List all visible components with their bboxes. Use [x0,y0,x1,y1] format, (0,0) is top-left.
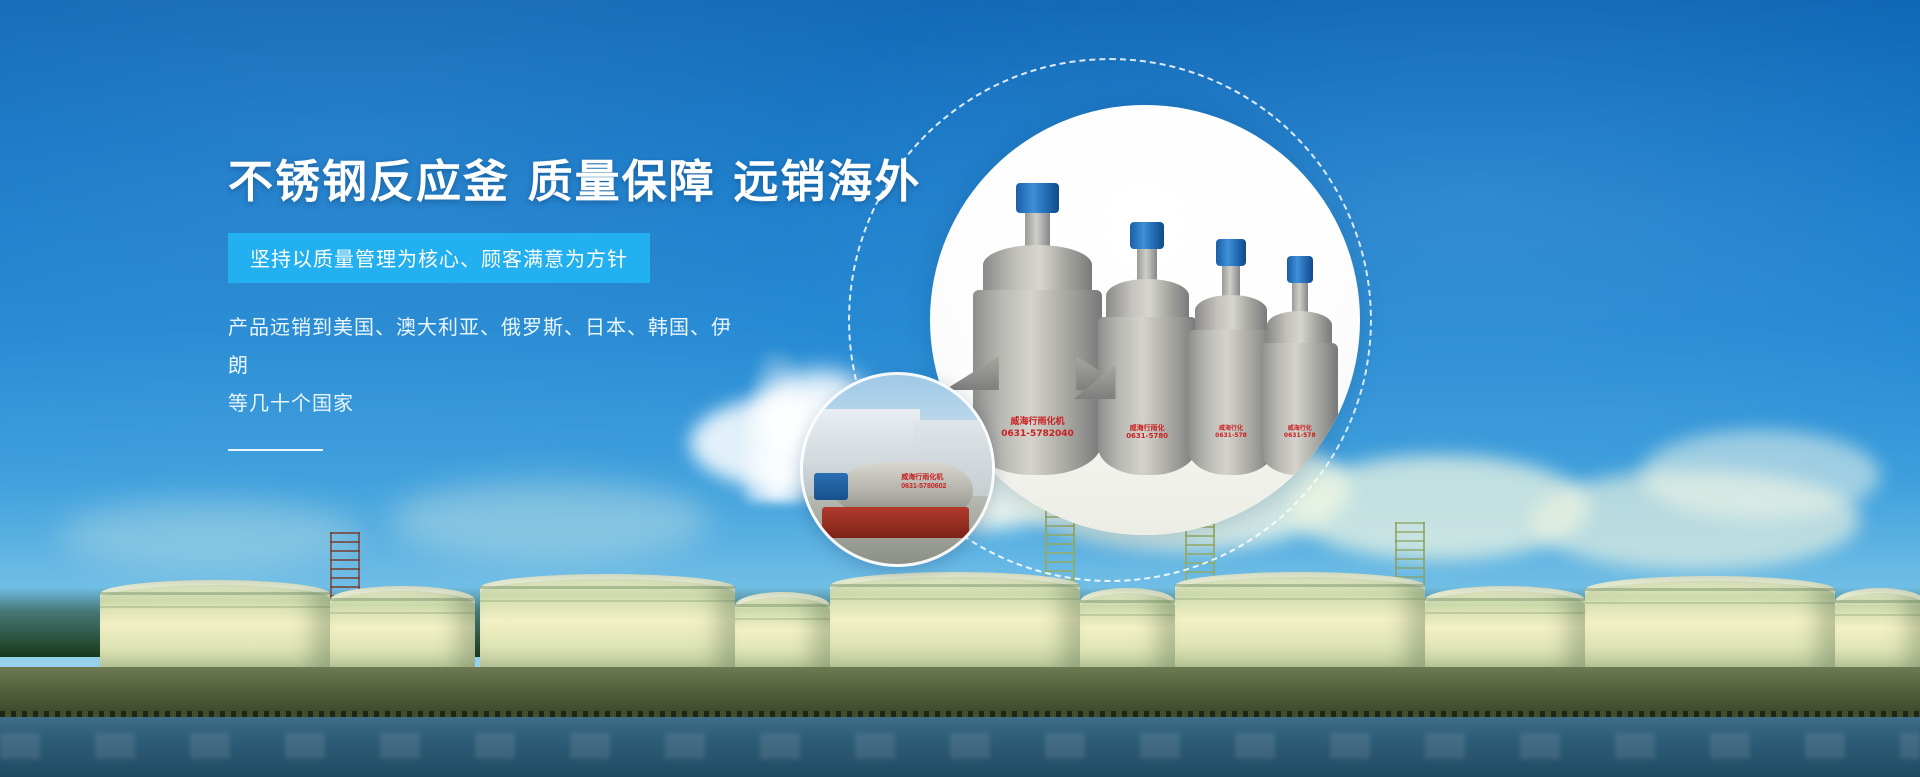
storage-tank [1175,572,1425,672]
vessel-label-phone: 0631-5782040 [1001,429,1074,439]
vessel-head [983,245,1091,295]
storage-tank [330,586,475,672]
agitator-motor [1130,222,1164,249]
storage-tank [1425,586,1585,672]
vessel-label-company: 威海行化 [1288,425,1312,432]
vessel-label-company: 威海行雨化 [1130,424,1165,432]
vessel-label-phone: 0631-5780 [1126,432,1168,440]
vessel-label-phone: 0631-578 [1215,432,1247,439]
storage-tank [1080,588,1175,672]
vessel-head [1195,295,1267,334]
refinery-scene [0,512,1920,777]
storage-tank [735,592,830,672]
vessel-label: 威海行化 0631-578 [1284,425,1316,440]
vessel-label-company: 威海行雨化机 [901,474,943,481]
vessel-label: 威海行化 0631-578 [1215,425,1247,440]
agitator-motor [814,473,848,499]
transport-truck [822,507,969,537]
agitator-motor [1287,256,1313,282]
agitator-motor [1216,239,1245,266]
hero-description-line1: 产品远销到美国、澳大利亚、俄罗斯、日本、韩国、伊朗 [228,317,732,377]
storage-tank [1585,576,1835,672]
hero-copy: 不锈钢反应釜 质量保障 远销海外 坚持以质量管理为核心、顾客满意为方针 产品远销… [228,158,868,451]
hero-description: 产品远销到美国、澳大利亚、俄罗斯、日本、韩国、伊朗 等几十个国家 [228,309,748,423]
cloud [1640,430,1880,520]
storage-tank [1835,588,1920,672]
storage-tank [830,572,1080,672]
reactor-vessel: 威海行雨化 0631-5780 [1098,264,1197,475]
vessel-label: 威海行雨化机 0631-5782040 [1001,417,1074,440]
agitator-motor [1016,183,1060,213]
vessel-label-company: 威海行雨化机 [1010,417,1064,427]
hero-divider-rule [228,449,323,451]
motor-cap [1223,221,1238,240]
vessel-label-phone: 0631-5780602 [901,483,946,490]
vessel-label: 威海行雨化 0631-5780 [1126,424,1168,442]
water-sheen [0,733,1920,759]
reactor-vessel: 威海行雨化机 0631-5782040 [973,225,1102,474]
vessel-head [1106,279,1189,321]
motor-cap [1293,239,1307,258]
storage-tank-row [0,522,1920,672]
vessel-label-company: 威海行化 [1219,425,1243,432]
hero-badge: 坚持以质量管理为核心、顾客满意为方针 [228,233,650,283]
motor-cap [1138,203,1156,224]
vessel-label: 威海行雨化机 0631-5780602 [901,473,946,491]
vessel-head [1267,311,1332,346]
storage-tank [100,580,330,672]
reactor-vessel: 威海行化 0631-578 [1261,299,1338,475]
hero-banner: 威海行雨化机 0631-5782040 威海行雨化 0631-5780 威海行化 [0,0,1920,777]
vessel-body [1261,343,1338,475]
hero-description-line2: 等几十个国家 [228,393,354,415]
storage-tank [480,574,735,672]
hero-title: 不锈钢反应釜 质量保障 远销海外 [228,158,868,207]
motor-cap [1026,163,1049,185]
vessel-label-phone: 0631-578 [1284,432,1316,439]
